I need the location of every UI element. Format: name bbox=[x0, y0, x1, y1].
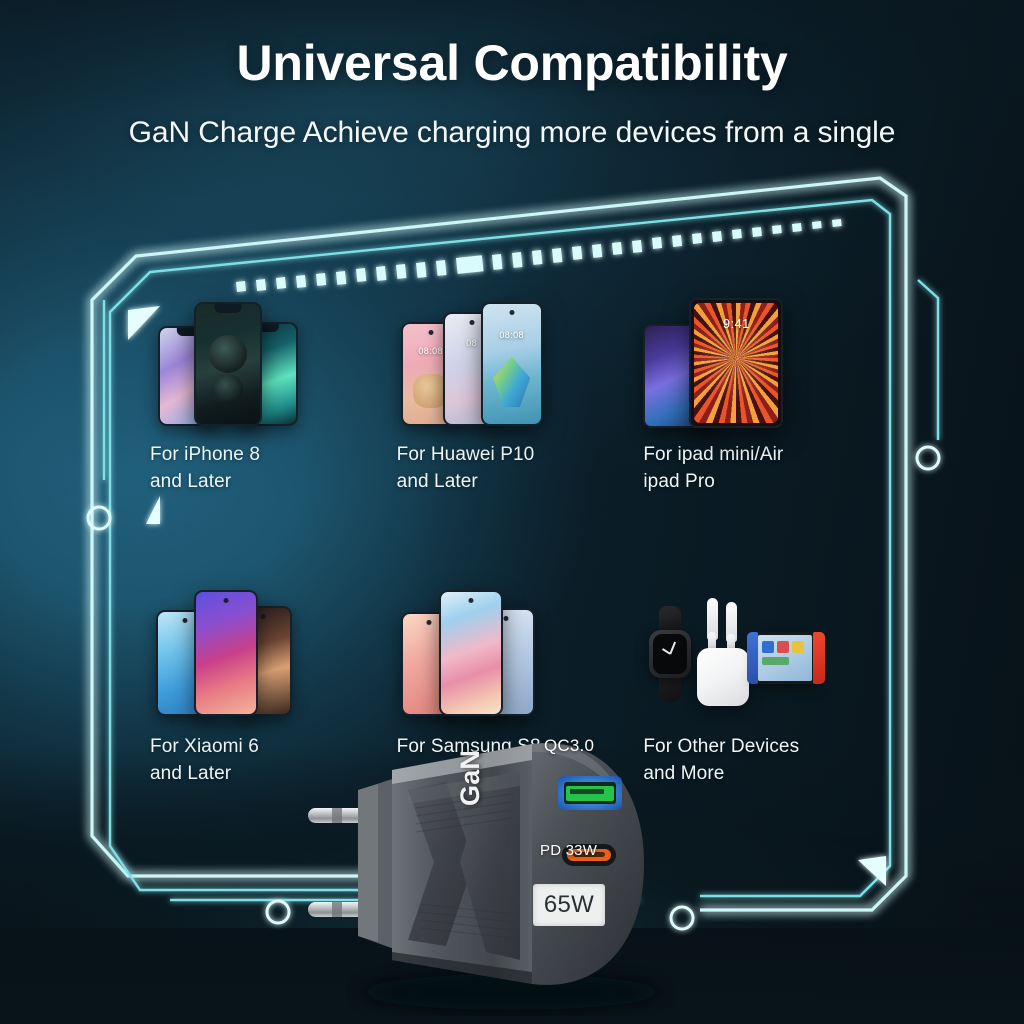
gan-charger-product bbox=[296, 716, 716, 1016]
product-poster: Universal Compatibility GaN Charge Achie… bbox=[0, 0, 1024, 1024]
gan-brand-label: GaN bbox=[455, 750, 486, 806]
phone-camera-punch bbox=[503, 616, 508, 621]
phone-camera-punch bbox=[224, 598, 229, 603]
compat-item-iphone[interactable]: For iPhone 8 and Later bbox=[150, 296, 397, 496]
compat-label-huawei: For Huawei P10 and Later bbox=[397, 442, 644, 496]
other-devices-art bbox=[643, 588, 890, 720]
compat-item-huawei[interactable]: 08:08 08 08:08 For Huawei P10 a bbox=[397, 296, 644, 496]
label-line-2: and Later bbox=[397, 469, 644, 496]
compat-label-iphone: For iPhone 8 and Later bbox=[150, 442, 397, 496]
power-rating-badge: 65W bbox=[533, 884, 605, 926]
phone-camera-punch bbox=[183, 618, 188, 623]
phone-center bbox=[194, 590, 258, 716]
compat-label-ipad: For ipad mini/Air ipad Pro bbox=[643, 442, 890, 496]
label-line-2: and Later bbox=[150, 469, 397, 496]
xiaomi-trio-art bbox=[150, 588, 397, 720]
phone-camera-punch bbox=[469, 320, 474, 325]
eu-plug-pins bbox=[308, 808, 366, 917]
compatibility-grid: For iPhone 8 and Later 08:08 08 bbox=[150, 296, 890, 788]
label-line-1: For Xiaomi 6 bbox=[150, 736, 259, 757]
apple-watch bbox=[649, 606, 691, 702]
phone-camera-punch bbox=[509, 310, 514, 315]
label-line-1: For iPhone 8 bbox=[150, 444, 260, 465]
phone-camera-punch bbox=[468, 598, 473, 603]
compat-item-ipad[interactable]: 9:41 For ipad mini/Air ipad Pro bbox=[643, 296, 890, 496]
page-subtitle: GaN Charge Achieve charging more devices… bbox=[0, 115, 1024, 151]
phone-notch bbox=[215, 304, 242, 313]
phone-camera-punch bbox=[426, 620, 431, 625]
screen-clock: 08:08 bbox=[483, 330, 541, 340]
usb-c-port-label: PD 33W bbox=[540, 842, 597, 859]
label-line-2: ipad Pro bbox=[643, 469, 890, 496]
iphone-trio-art bbox=[150, 296, 397, 428]
nintendo-switch bbox=[747, 632, 835, 684]
phone-right: 08:08 bbox=[481, 302, 543, 426]
airpods bbox=[693, 598, 753, 708]
phone-camera-punch bbox=[428, 330, 433, 335]
phone-center bbox=[439, 590, 503, 716]
phone-center bbox=[194, 302, 262, 426]
ipad-pair-art: 9:41 bbox=[643, 296, 890, 428]
label-line-1: For ipad mini/Air bbox=[643, 444, 783, 465]
usb-a-port bbox=[558, 776, 622, 810]
samsung-trio-art bbox=[397, 588, 644, 720]
header-block: Universal Compatibility GaN Charge Achie… bbox=[0, 34, 1024, 151]
label-line-1: For Huawei P10 bbox=[397, 444, 535, 465]
usb-a-port-label: QC3.0 bbox=[544, 736, 594, 756]
page-title: Universal Compatibility bbox=[0, 34, 1024, 93]
huawei-trio-art: 08:08 08 08:08 bbox=[397, 296, 644, 428]
phone-camera-punch bbox=[261, 614, 266, 619]
compatibility-row: For iPhone 8 and Later 08:08 08 bbox=[150, 296, 890, 496]
tablet-front: 9:41 bbox=[689, 298, 783, 428]
screen-clock: 9:41 bbox=[691, 316, 781, 331]
